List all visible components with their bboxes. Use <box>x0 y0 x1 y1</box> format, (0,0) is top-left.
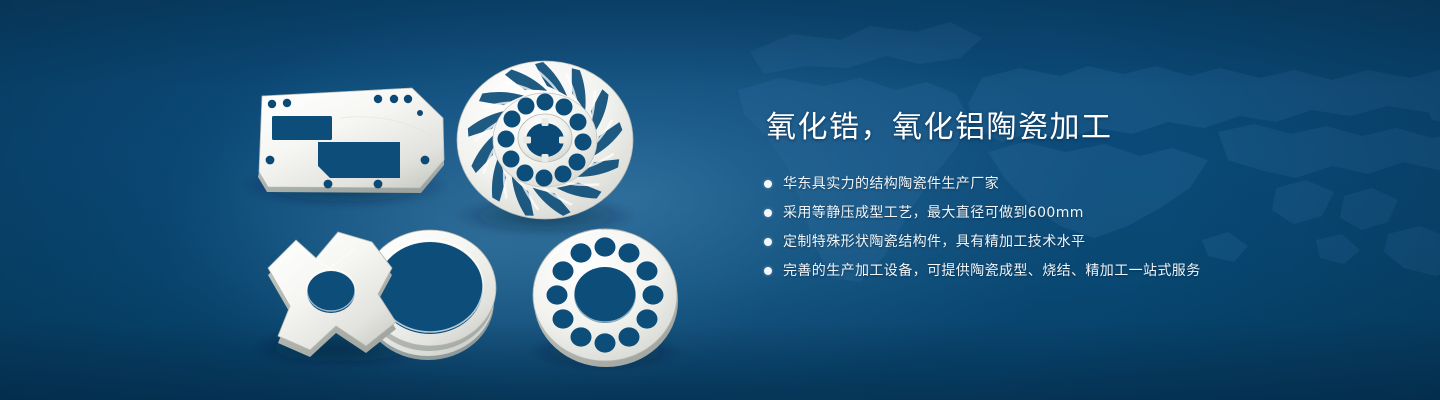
ceramic-perforated-disc <box>533 229 678 367</box>
page-title: 氧化锆，氧化铝陶瓷加工 <box>766 108 1404 148</box>
ceramic-ring-stack <box>362 230 496 360</box>
ceramic-mounting-plate <box>258 88 444 193</box>
bullet-dot-icon <box>764 238 772 246</box>
list-item-label: 采用等静压成型工艺，最大直径可做到600mm <box>783 203 1084 223</box>
bullet-dot-icon <box>764 267 772 275</box>
bullet-dot-icon <box>764 209 772 217</box>
list-item: 采用等静压成型工艺，最大直径可做到600mm <box>764 203 1404 223</box>
product-photo-cluster <box>0 0 760 400</box>
list-item: 完善的生产加工设备，可提供陶瓷成型、烧结、精加工一站式服务 <box>764 261 1404 281</box>
list-item: 定制特殊形状陶瓷结构件，具有精加工技术水平 <box>764 232 1404 252</box>
list-item-label: 定制特殊形状陶瓷结构件，具有精加工技术水平 <box>783 232 1085 252</box>
banner-copy: 氧化锆，氧化铝陶瓷加工 华东具实力的结构陶瓷件生产厂家 采用等静压成型工艺，最大… <box>764 108 1404 281</box>
feature-list: 华东具实力的结构陶瓷件生产厂家 采用等静压成型工艺，最大直径可做到600mm 定… <box>764 174 1404 281</box>
list-item-label: 华东具实力的结构陶瓷件生产厂家 <box>783 174 999 194</box>
list-item-label: 完善的生产加工设备，可提供陶瓷成型、烧结、精加工一站式服务 <box>783 261 1201 281</box>
bullet-dot-icon <box>764 180 772 188</box>
ceramic-impeller-disc <box>457 60 633 221</box>
promo-banner: 氧化锆，氧化铝陶瓷加工 华东具实力的结构陶瓷件生产厂家 采用等静压成型工艺，最大… <box>0 0 1440 400</box>
list-item: 华东具实力的结构陶瓷件生产厂家 <box>764 174 1404 194</box>
